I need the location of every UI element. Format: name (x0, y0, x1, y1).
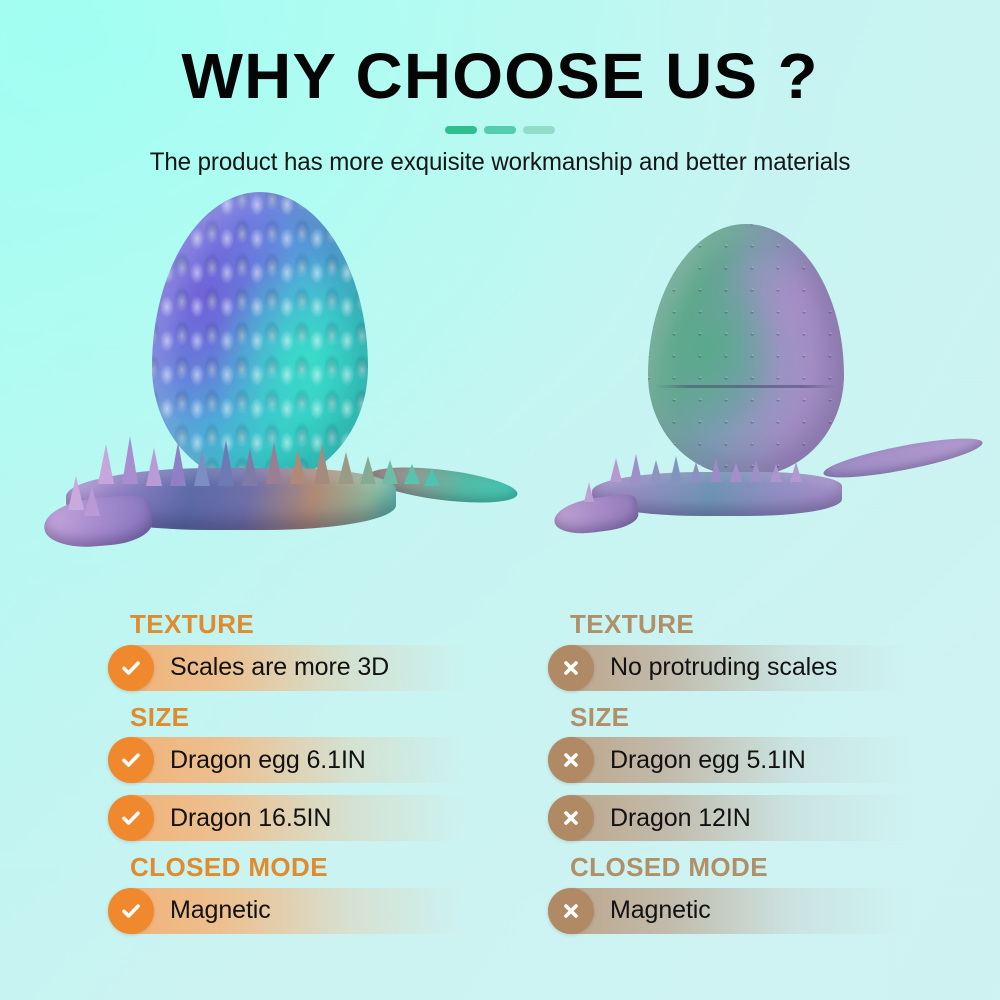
check-icon (108, 645, 154, 691)
right-feature-label: No protruding scales (610, 653, 837, 682)
cross-icon (548, 737, 594, 783)
left-dragon-spikes (38, 432, 508, 562)
right-product-image (520, 180, 1000, 610)
left-feature-row-size-2: Dragon 16.5IN (108, 795, 498, 841)
product-image-stage (0, 180, 1000, 610)
why-choose-us-poster: WHY CHOOSE US ? The product has more exq… (0, 0, 1000, 1000)
page-subtitle: The product has more exquisite workmansh… (18, 148, 983, 177)
divider-dash-1 (445, 126, 477, 134)
left-feature-label: Dragon 16.5IN (170, 804, 331, 833)
left-feature-label: Scales are more 3D (170, 653, 389, 682)
left-feature-row-closed-mode-1: Magnetic (108, 888, 498, 934)
page-title: WHY CHOOSE US ? (0, 0, 1000, 108)
right-category-texture: TEXTURE (570, 610, 988, 639)
right-feature-row-texture-1: No protruding scales (548, 645, 938, 691)
divider-dash-3 (523, 126, 555, 134)
cross-icon (548, 888, 594, 934)
check-icon (108, 888, 154, 934)
right-dragon-spikes (540, 438, 970, 554)
poster-header: WHY CHOOSE US ? The product has more exq… (0, 0, 1000, 177)
left-category-texture: TEXTURE (130, 610, 548, 639)
left-category-closed-mode: CLOSED MODE (130, 853, 548, 882)
left-feature-column: TEXTURE Scales are more 3D SIZE Dragon e… (108, 610, 548, 946)
check-icon (108, 737, 154, 783)
left-feature-row-size-1: Dragon egg 6.1IN (108, 737, 498, 783)
divider-dash-2 (484, 126, 516, 134)
right-category-size: SIZE (570, 703, 988, 732)
left-dragon-figure-image (38, 432, 508, 562)
check-icon (108, 795, 154, 841)
comparison-lists: TEXTURE Scales are more 3D SIZE Dragon e… (0, 610, 1000, 1000)
divider-dashes (440, 126, 560, 134)
left-feature-label: Magnetic (170, 896, 271, 925)
cross-icon (548, 795, 594, 841)
right-feature-row-size-1: Dragon egg 5.1IN (548, 737, 938, 783)
right-feature-label: Magnetic (610, 896, 711, 925)
right-feature-label: Dragon egg 5.1IN (610, 746, 806, 775)
left-product-image (0, 180, 520, 610)
cross-icon (548, 645, 594, 691)
right-feature-row-size-2: Dragon 12IN (548, 795, 938, 841)
left-category-size: SIZE (130, 703, 548, 732)
right-feature-column: TEXTURE No protruding scales SIZE Dragon… (548, 610, 988, 946)
right-feature-label: Dragon 12IN (610, 804, 751, 833)
right-feature-row-closed-mode-1: Magnetic (548, 888, 938, 934)
right-category-closed-mode: CLOSED MODE (570, 853, 988, 882)
left-feature-row-texture-1: Scales are more 3D (108, 645, 498, 691)
left-feature-label: Dragon egg 6.1IN (170, 746, 366, 775)
right-dragon-figure-image (540, 438, 970, 554)
